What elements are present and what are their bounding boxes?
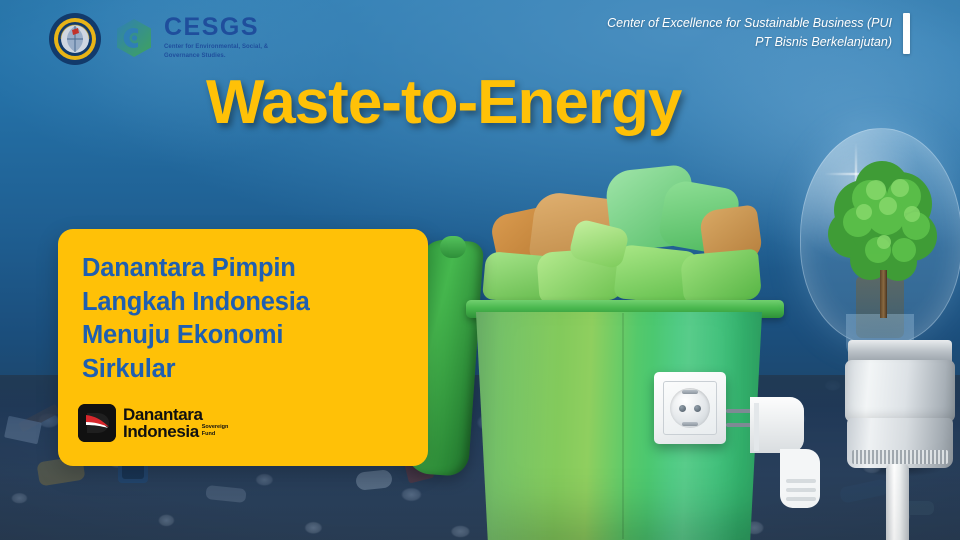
paper-waste-pile	[476, 158, 766, 308]
danantara-tagline: SovereignFund	[202, 424, 229, 440]
danantara-logo-line-1: Danantara	[123, 406, 228, 423]
lightbulb-with-tree	[790, 128, 960, 540]
cesgs-hexagon-icon	[112, 16, 156, 60]
headline-line-3: Menuju Ekonomi	[82, 319, 392, 353]
waste-to-energy-banner: CESGS Center for Environmental, Social, …	[0, 0, 960, 540]
bulb-power-cable	[886, 464, 909, 540]
center-of-excellence-caption: Center of Excellence for Sustainable Bus…	[562, 14, 892, 53]
wall-socket-icon	[654, 372, 726, 444]
bin-body-edge	[622, 313, 624, 539]
danantara-logo-line-2: Indonesia	[123, 423, 199, 440]
headline-line-1: Danantara Pimpin	[82, 252, 392, 286]
headline-text: Danantara Pimpin Langkah Indonesia Menuj…	[82, 252, 392, 387]
green-waste-bin	[406, 150, 806, 540]
coe-line-2: PT Bisnis Berkelanjutan)	[562, 33, 892, 52]
universitas-airlangga-seal	[48, 12, 102, 66]
tree-inside-bulb	[824, 158, 940, 303]
bulb-base-upper	[845, 360, 955, 422]
headline-line-4: Sirkular	[82, 353, 392, 387]
coe-line-1: Center of Excellence for Sustainable Bus…	[562, 14, 892, 33]
cesgs-acronym: CESGS	[164, 15, 276, 40]
bulb-base-vents	[852, 450, 948, 464]
danantara-mark-icon	[78, 404, 116, 442]
cesgs-subtitle: Center for Environmental, Social, & Gove…	[164, 43, 276, 60]
headline-line-2: Langkah Indonesia	[82, 286, 392, 320]
danantara-indonesia-logo: Danantara Indonesia SovereignFund	[78, 404, 228, 442]
caption-divider-bar	[903, 13, 910, 54]
page-title: Waste-to-Energy	[206, 72, 681, 134]
bin-lid-hinge	[440, 236, 466, 258]
cesgs-logo: CESGS Center for Environmental, Social, …	[112, 14, 276, 62]
